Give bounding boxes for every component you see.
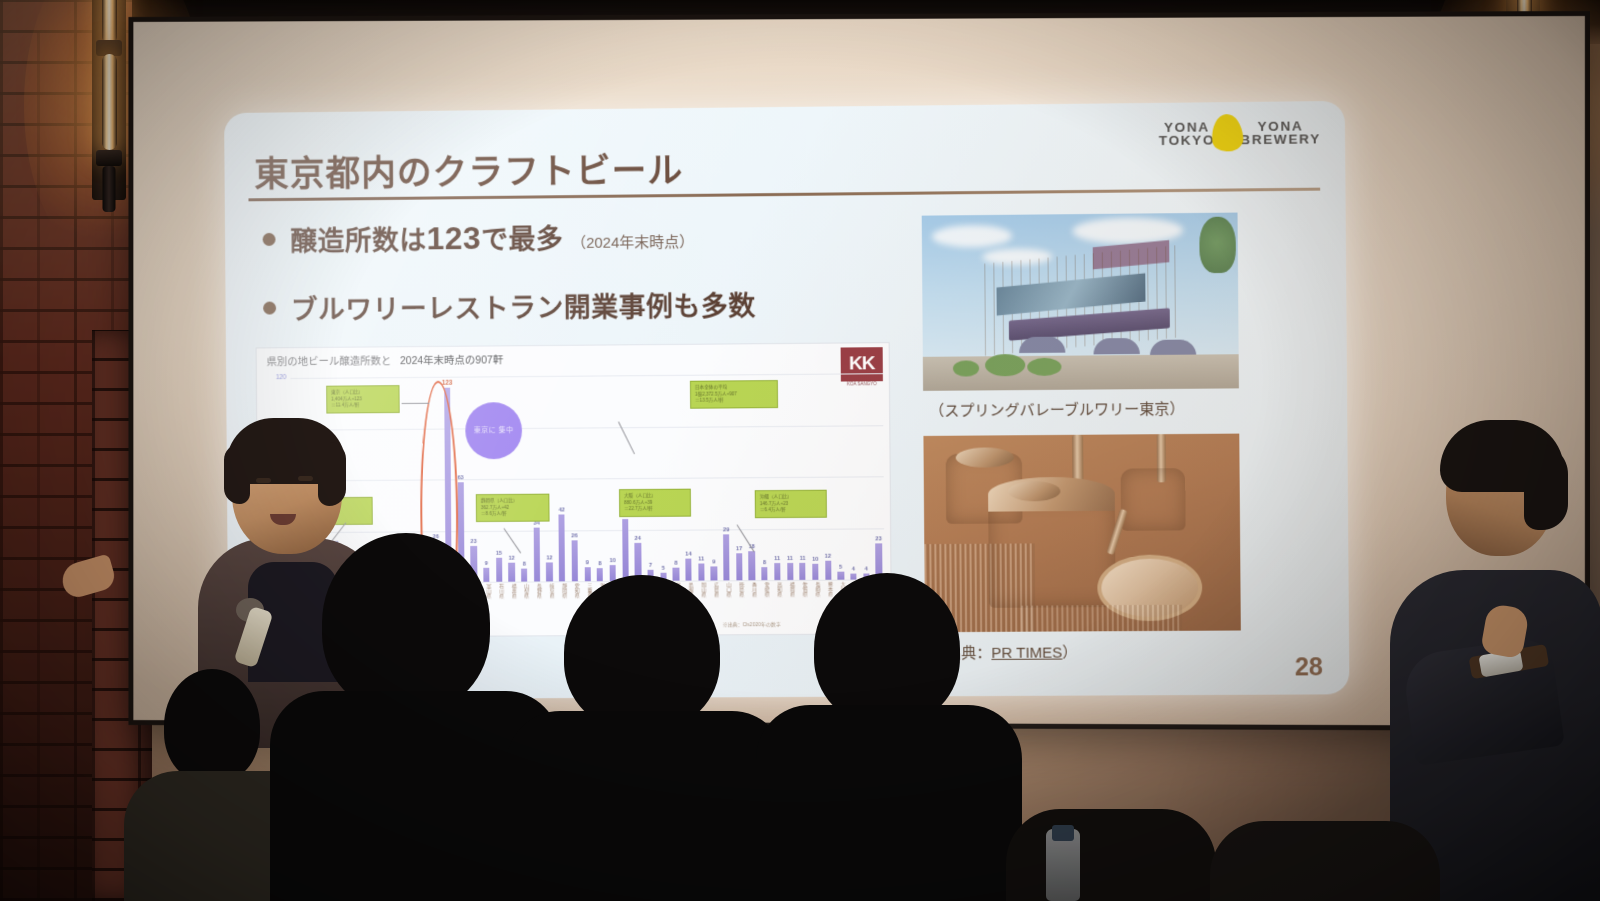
bar-23: 9 <box>580 376 593 582</box>
bottle-cap <box>1052 825 1074 841</box>
bar-rect <box>761 567 767 580</box>
bullet-1-prefix: 醸造所数は <box>290 225 426 256</box>
chart-title: 県別の地ビール醸造所数と 2024年末時点の907軒 <box>267 352 504 369</box>
audience-member-6 <box>1210 771 1440 901</box>
bar-22: 26 <box>567 376 580 582</box>
bar-value-label: 23 <box>875 536 881 542</box>
bar-value-label: 23 <box>471 539 477 545</box>
bar-value-label: 11 <box>698 556 704 562</box>
bullet-list: 醸造所数は123で最多 （2024年末時点） ブルワリーレストラン開業事例も多数 <box>262 214 870 357</box>
bar-value-label: 10 <box>812 557 818 563</box>
bar-rect <box>749 552 756 581</box>
bar-45: 4 <box>859 373 872 579</box>
bar-28: 7 <box>643 375 656 581</box>
bar-value-label: 8 <box>674 561 677 567</box>
bar-value-label: 42 <box>559 508 565 514</box>
presentation-room-scene: YONA TOKYO YONA BREWERY 東京都内のクラフトビール 醸造所… <box>0 0 1600 901</box>
bar-value-label: 63 <box>457 475 463 481</box>
bar-41: 10 <box>808 374 821 580</box>
bar-value-label: 8 <box>598 561 601 567</box>
bar-43: 5 <box>833 373 846 579</box>
bar-value-label: 8 <box>763 560 766 566</box>
bar-rect <box>711 566 717 580</box>
bar-rect <box>673 568 679 581</box>
bar-rect <box>685 558 691 580</box>
bar-24: 8 <box>593 375 606 581</box>
bar-value-label: 11 <box>800 555 806 561</box>
audience-member-2 <box>286 571 536 901</box>
bar-rect <box>787 563 793 580</box>
caption-source-link: PR TIMES <box>991 645 1062 662</box>
bar-26: 39 <box>618 375 631 581</box>
callout-okinawa: 沖縄（人口比） 146.7万人÷23 ＝6.4万人/軒 <box>755 490 827 518</box>
bar-value-label: 5 <box>662 566 665 572</box>
bar-27: 24 <box>631 375 644 581</box>
bar-value-label: 12 <box>508 556 514 562</box>
bar-rect <box>736 553 743 580</box>
callout-shizuoka: 静岡県（人口比） 362.7万人÷42 ＝8.6万人/軒 <box>476 494 550 522</box>
callout-japan-avg: 日本全体の平均 1億2,372.5万人÷907 ＝13.5万人/軒 <box>690 380 778 408</box>
bar-value-label: 4 <box>865 566 868 572</box>
bullet-1-note: （2024年末時点） <box>571 234 694 252</box>
bullet-dot-icon <box>263 233 276 246</box>
bar-rect <box>597 568 603 581</box>
bar-44: 4 <box>846 373 859 579</box>
audience-member-3 <box>516 601 766 901</box>
callout-arrow-tokyo <box>402 403 430 404</box>
wall-sconce-left <box>84 0 134 240</box>
audience-member-4 <box>770 601 1000 901</box>
bar-rect <box>546 562 552 581</box>
bar-20: 12 <box>542 376 555 582</box>
bullet-item-2: ブルワリーレストラン開業事例も多数 <box>263 283 870 327</box>
bar-value-label: 9 <box>712 559 715 565</box>
callout-osaka: 大阪（人口比） 880.6万人÷39 ＝22.7万人/軒 <box>619 489 691 517</box>
bar-value-label: 17 <box>736 546 742 552</box>
bar-rect <box>723 534 730 580</box>
bullet-1-suffix: で最多 <box>481 224 563 255</box>
caption-source-suffix: ） <box>1062 644 1077 661</box>
bar-42: 12 <box>821 374 834 580</box>
bar-rect <box>622 519 629 581</box>
bar-25: 10 <box>605 375 618 581</box>
bar-value-label: 12 <box>546 555 552 561</box>
bar-39: 11 <box>783 374 796 580</box>
bar-rect <box>812 564 818 580</box>
bullet-2-text: ブルワリーレストラン開業事例も多数 <box>291 291 756 325</box>
bar-rect <box>850 573 856 579</box>
slide-page-number: 28 <box>1295 653 1323 682</box>
tokyo-concentration-annotation: 東京に 集中 <box>465 402 522 459</box>
bar-rect <box>698 563 704 580</box>
bar-21: 42 <box>555 376 568 582</box>
chart-title-left: 県別の地ビール醸造所数と <box>267 355 392 368</box>
bar-value-label: 5 <box>839 565 842 571</box>
bar-value-label: 34 <box>533 521 539 527</box>
bar-rect <box>838 572 844 580</box>
bullet-item-1: 醸造所数は123で最多 （2024年末時点） <box>262 214 869 259</box>
bar-value-label: 11 <box>774 556 780 562</box>
bar-value-label: 9 <box>586 560 589 566</box>
caption-brewery-building: （スプリングバレーブルワリー東京） <box>929 398 1185 421</box>
audience-member-5 <box>1006 751 1216 901</box>
bar-rect <box>584 567 590 581</box>
bar-rect <box>825 561 831 580</box>
bar-value-label: 14 <box>685 551 691 557</box>
bar-value-label: 29 <box>723 527 729 533</box>
bar-value-label: 10 <box>609 558 615 564</box>
bullet-1-number: 123 <box>426 220 481 256</box>
bar-rect <box>559 515 566 581</box>
bar-46: 23 <box>871 373 884 579</box>
bar-value-label: 11 <box>787 556 793 562</box>
bar-value-label: 4 <box>852 566 855 572</box>
bar-40: 11 <box>795 374 808 580</box>
bar-30: 8 <box>669 375 682 581</box>
bar-value-label: 26 <box>571 533 577 539</box>
bar-rect <box>799 562 805 579</box>
slide-title: 東京都内のクラフトビール <box>254 142 683 197</box>
callout-tokyo: 東京（人口比） 1,404万人÷123 ＝11.4万人/軒 <box>326 385 400 413</box>
annotation-text: 東京に 集中 <box>474 426 514 436</box>
bar-value-label: 9 <box>485 561 488 567</box>
yona-yona-brewery-logo: YONA TOKYO YONA BREWERY <box>1159 113 1321 152</box>
bar-value-label: 12 <box>825 554 831 560</box>
logo-text-yona-1: YONA <box>1159 120 1215 134</box>
logo-text-brewery: BREWERY <box>1240 132 1321 146</box>
bar-rect <box>571 540 578 581</box>
bar-value-label: 15 <box>496 551 502 557</box>
photo-brewery-building <box>922 213 1239 391</box>
logo-text-tokyo: TOKYO <box>1159 133 1215 147</box>
bar-29: 5 <box>656 375 669 581</box>
chart-title-right: 2024年末時点の907軒 <box>400 354 503 367</box>
bar-rect <box>774 563 780 580</box>
bullet-dot-icon <box>263 302 276 315</box>
bar-value-label: 7 <box>649 563 652 569</box>
bar-value-label: 8 <box>523 562 526 568</box>
bar-19: 34 <box>530 376 543 582</box>
ytick-120: 120 <box>263 374 287 381</box>
bar-value-label: 24 <box>635 536 641 542</box>
